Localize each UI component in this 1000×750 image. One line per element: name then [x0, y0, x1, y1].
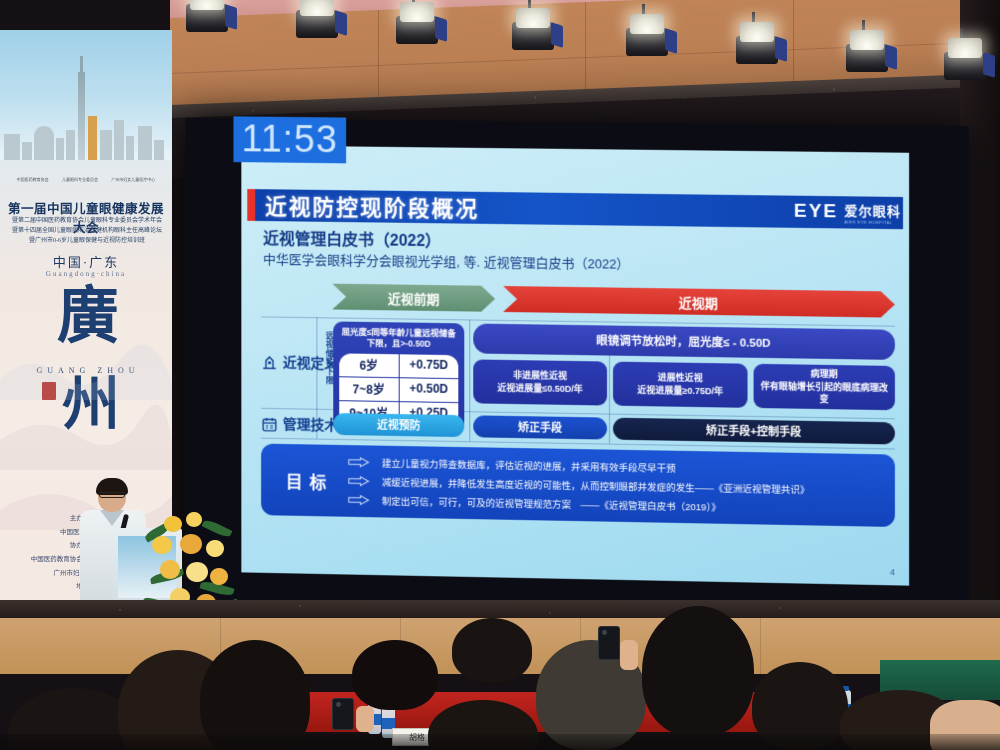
stage-light-icon [736, 36, 778, 64]
stage-arrow-pre-myopia: 近视前期 [332, 284, 495, 312]
banner-place-pinyin: Guangdong·china [6, 270, 166, 278]
value-cell: +0.75D [399, 354, 458, 378]
myopia-definition-header: 眼镜调节放松时，屈光度≤ - 0.50D [473, 324, 895, 360]
banner-subline: 暨广州市0-6岁儿童眼保健与近视防控培训班 [8, 236, 166, 246]
goal-item-text: 制定出可信，可行，可及的近视管理规范方案 ——《近视管理白皮书（2019）》 [382, 494, 721, 514]
sponsor-logo-caption: 儿童眼科专业委员会 [62, 178, 98, 182]
subtype-name: 病理期 [811, 368, 838, 381]
myopia-subtype-progressive: 进展性近视 近视进展量≥0.75D/年 [613, 362, 748, 408]
brand-latin: EYE [794, 201, 838, 224]
smartphone-recording [332, 698, 354, 730]
projection-screen: 11:53 近视防控现阶段概况 EYE 爱尔眼科 AIER EYE HOSPIT… [185, 118, 969, 630]
subtype-detail: 近视进展量≤0.50D/年 [497, 382, 582, 396]
brand-subtitle: AIER EYE HOSPITAL [844, 219, 901, 225]
stage-light-icon [846, 44, 888, 72]
banner-place: 中国·广东 [6, 252, 166, 271]
subtype-name: 非进展性近视 [513, 369, 567, 382]
arrow-right-icon [348, 494, 370, 506]
arrow-right-icon [348, 475, 370, 487]
eye-chart-icon [261, 354, 278, 371]
stage-granite-band [0, 600, 1000, 620]
table-row: 6岁 +0.75D [339, 353, 458, 379]
slide-reference: 中华医学会眼科学分会眼视光学组, 等. 近视管理白皮书（2022） [263, 249, 629, 273]
audience-head [452, 618, 532, 682]
subtype-detail: 伴有眼轴增长引起的眼底病理改变 [758, 380, 891, 407]
stage-arrow-myopia: 近视期 [503, 286, 895, 318]
table-row: 7~8岁 +0.50D [339, 377, 458, 403]
myopia-subtype-pathologic: 病理期 伴有眼轴增长引起的眼底病理改变 [754, 364, 895, 410]
slide-title: 近视防控现阶段概况 [265, 189, 479, 224]
age-cell: 6岁 [339, 353, 399, 377]
brand-chinese: 爱尔眼科 [844, 200, 901, 220]
goal-title: 目标 [271, 467, 348, 493]
age-cell: 7~8岁 [339, 377, 399, 401]
list-item: 制定出可信，可行，可及的近视管理规范方案 ——《近视管理白皮书（2019）》 [348, 493, 885, 517]
reserve-lower-limit-label: 远视储备下限 [320, 331, 333, 385]
hand [356, 706, 374, 732]
row-label-management-text: 管理技术 [283, 414, 338, 435]
value-cell: +0.50D [399, 378, 458, 402]
subtype-detail: 近视进展量≥0.75D/年 [637, 384, 723, 398]
stage-light-icon [296, 10, 338, 38]
stage-light-icon [626, 28, 668, 56]
stage-arrow-row: 近视前期 近视期 [332, 284, 895, 322]
title-accent-bar [247, 189, 255, 221]
banner-sublines: 暨第二届中国医药教育协会儿童眼科专业委员会学术年会 暨第十四届全国儿童眼病防治保… [8, 216, 166, 247]
slide-page-number: 4 [890, 567, 895, 577]
clock-overlay: 11:53 [233, 116, 346, 163]
goal-box: 目标 建立儿童视力筛查数据库，评估近视的进展，并采用有效手段尽早干预 减缓近视进… [261, 444, 895, 527]
stage-light-icon [944, 52, 986, 80]
presentation-slide: 近视防控现阶段概况 EYE 爱尔眼科 AIER EYE HOSPITAL 近视管… [241, 145, 909, 585]
pre-myopia-definition-header: 屈光度≤同等年龄儿童远视储备下限，且>-0.50D [339, 327, 458, 352]
banner-subline: 暨第二届中国医药教育协会儿童眼科专业委员会学术年会 [8, 216, 166, 226]
smartphone-recording [598, 630, 600, 632]
foreground-shadow [0, 734, 1000, 750]
goal-item-text: 减缓近视进展，并降低发生高度近视的可能性，从而控制眼部并发症的发生——《亚洲近视… [382, 475, 810, 497]
stage-light-icon [396, 16, 438, 44]
sponsor-logos: 中国医药教育协会 儿童眼科专业委员会 广州市妇女儿童医疗中心 [10, 172, 162, 188]
glasses-icon [99, 492, 125, 498]
brand-logo: EYE 爱尔眼科 AIER EYE HOSPITAL [794, 200, 901, 225]
stage-light-icon [512, 22, 554, 50]
sponsor-logo-caption: 中国医药教育协会 [17, 178, 49, 182]
management-correction: 矫正手段 [473, 415, 607, 439]
stage-light-icon [186, 4, 228, 32]
audience-head [352, 640, 438, 710]
audience-head [642, 606, 754, 736]
conference-hall-photo: 11:53 近视防控现阶段概况 EYE 爱尔眼科 AIER EYE HOSPIT… [0, 0, 1000, 750]
smartphone-recording [598, 626, 620, 660]
calendar-icon [261, 415, 278, 432]
subtype-name: 进展性近视 [658, 372, 703, 385]
arrow-right-icon [348, 456, 370, 468]
row-label-management: 管理技术 [261, 414, 338, 435]
management-prevention: 近视预防 [333, 413, 464, 437]
slide-subtitle: 近视管理白皮书（2022） [263, 225, 441, 251]
goal-item-text: 建立儿童视力筛查数据库，评估近视的进展，并采用有效手段尽早干预 [382, 456, 676, 475]
skyline-illustration [0, 30, 172, 160]
sponsor-logo-caption: 广州市妇女儿童医疗中心 [111, 178, 155, 182]
myopia-subtype-non-progressive: 非进展性近视 近视进展量≤0.50D/年 [473, 359, 607, 405]
management-correction-control: 矫正手段+控制手段 [613, 418, 895, 445]
canton-tower-icon [78, 72, 85, 160]
banner-subline: 暨第十四届全国儿童眼病防治保健机构眼科主任高峰论坛 [8, 226, 166, 236]
hand [620, 640, 638, 670]
